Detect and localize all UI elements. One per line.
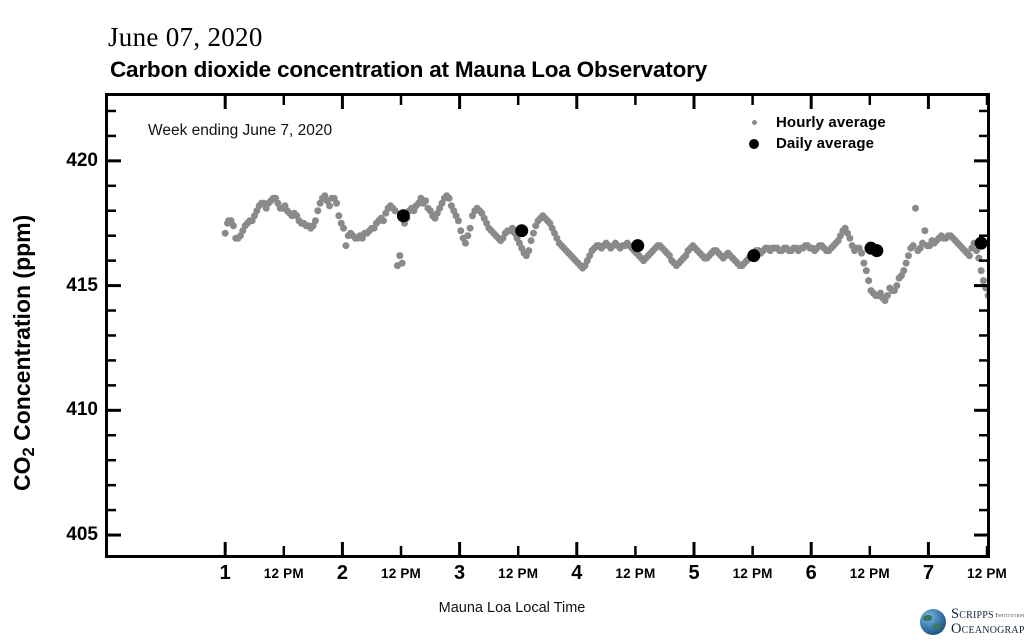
y-axis-title: CO2 Concentration (ppm)	[9, 183, 39, 523]
x-tick-label-day: 4	[571, 562, 582, 585]
data-points-layer	[108, 96, 987, 555]
legend-label-daily: Daily average	[776, 135, 874, 152]
x-tick-label-hour: 12 PM	[850, 566, 890, 581]
x-tick-label-hour: 12 PM	[967, 566, 1007, 581]
scripps-wordmark-line2: Oceanography	[951, 622, 1024, 637]
x-tick-label-hour: 12 PM	[381, 566, 421, 581]
legend-item-hourly: Hourly average	[732, 112, 932, 133]
x-tick-label-day: 6	[806, 562, 817, 585]
legend-label-hourly: Hourly average	[776, 114, 886, 131]
y-tick-label: 405	[66, 524, 98, 546]
x-axis-labels: 112 PM212 PM312 PM412 PM512 PM612 PM712 …	[0, 562, 1024, 602]
co2-chart-figure: June 07, 2020 Carbon dioxide concentrati…	[0, 0, 1024, 644]
legend: Hourly average Daily average	[732, 112, 932, 154]
plot-area: Week ending June 7, 2020 Hourly average …	[105, 93, 990, 558]
week-ending-annotation: Week ending June 7, 2020	[148, 122, 332, 140]
y-tick-label: 415	[66, 275, 98, 297]
hourly-average-dot-icon	[732, 120, 776, 125]
chart-title: Carbon dioxide concentration at Mauna Lo…	[110, 57, 707, 83]
x-tick-label-day: 3	[454, 562, 465, 585]
x-tick-label-day: 1	[220, 562, 231, 585]
legend-item-daily: Daily average	[732, 133, 932, 154]
x-axis-title: Mauna Loa Local Time	[0, 600, 1024, 616]
daily-average-dot-icon	[732, 139, 776, 149]
plot-inner	[108, 96, 987, 555]
date-title: June 07, 2020	[108, 22, 263, 53]
x-tick-label-hour: 12 PM	[264, 566, 304, 581]
x-tick-label-day: 5	[688, 562, 699, 585]
y-tick-label: 420	[66, 150, 98, 172]
x-tick-label-day: 7	[923, 562, 934, 585]
x-tick-label-hour: 12 PM	[733, 566, 773, 581]
x-tick-label-hour: 12 PM	[498, 566, 538, 581]
x-tick-label-day: 2	[337, 562, 348, 585]
x-tick-label-hour: 12 PM	[615, 566, 655, 581]
y-tick-label: 410	[66, 399, 98, 421]
